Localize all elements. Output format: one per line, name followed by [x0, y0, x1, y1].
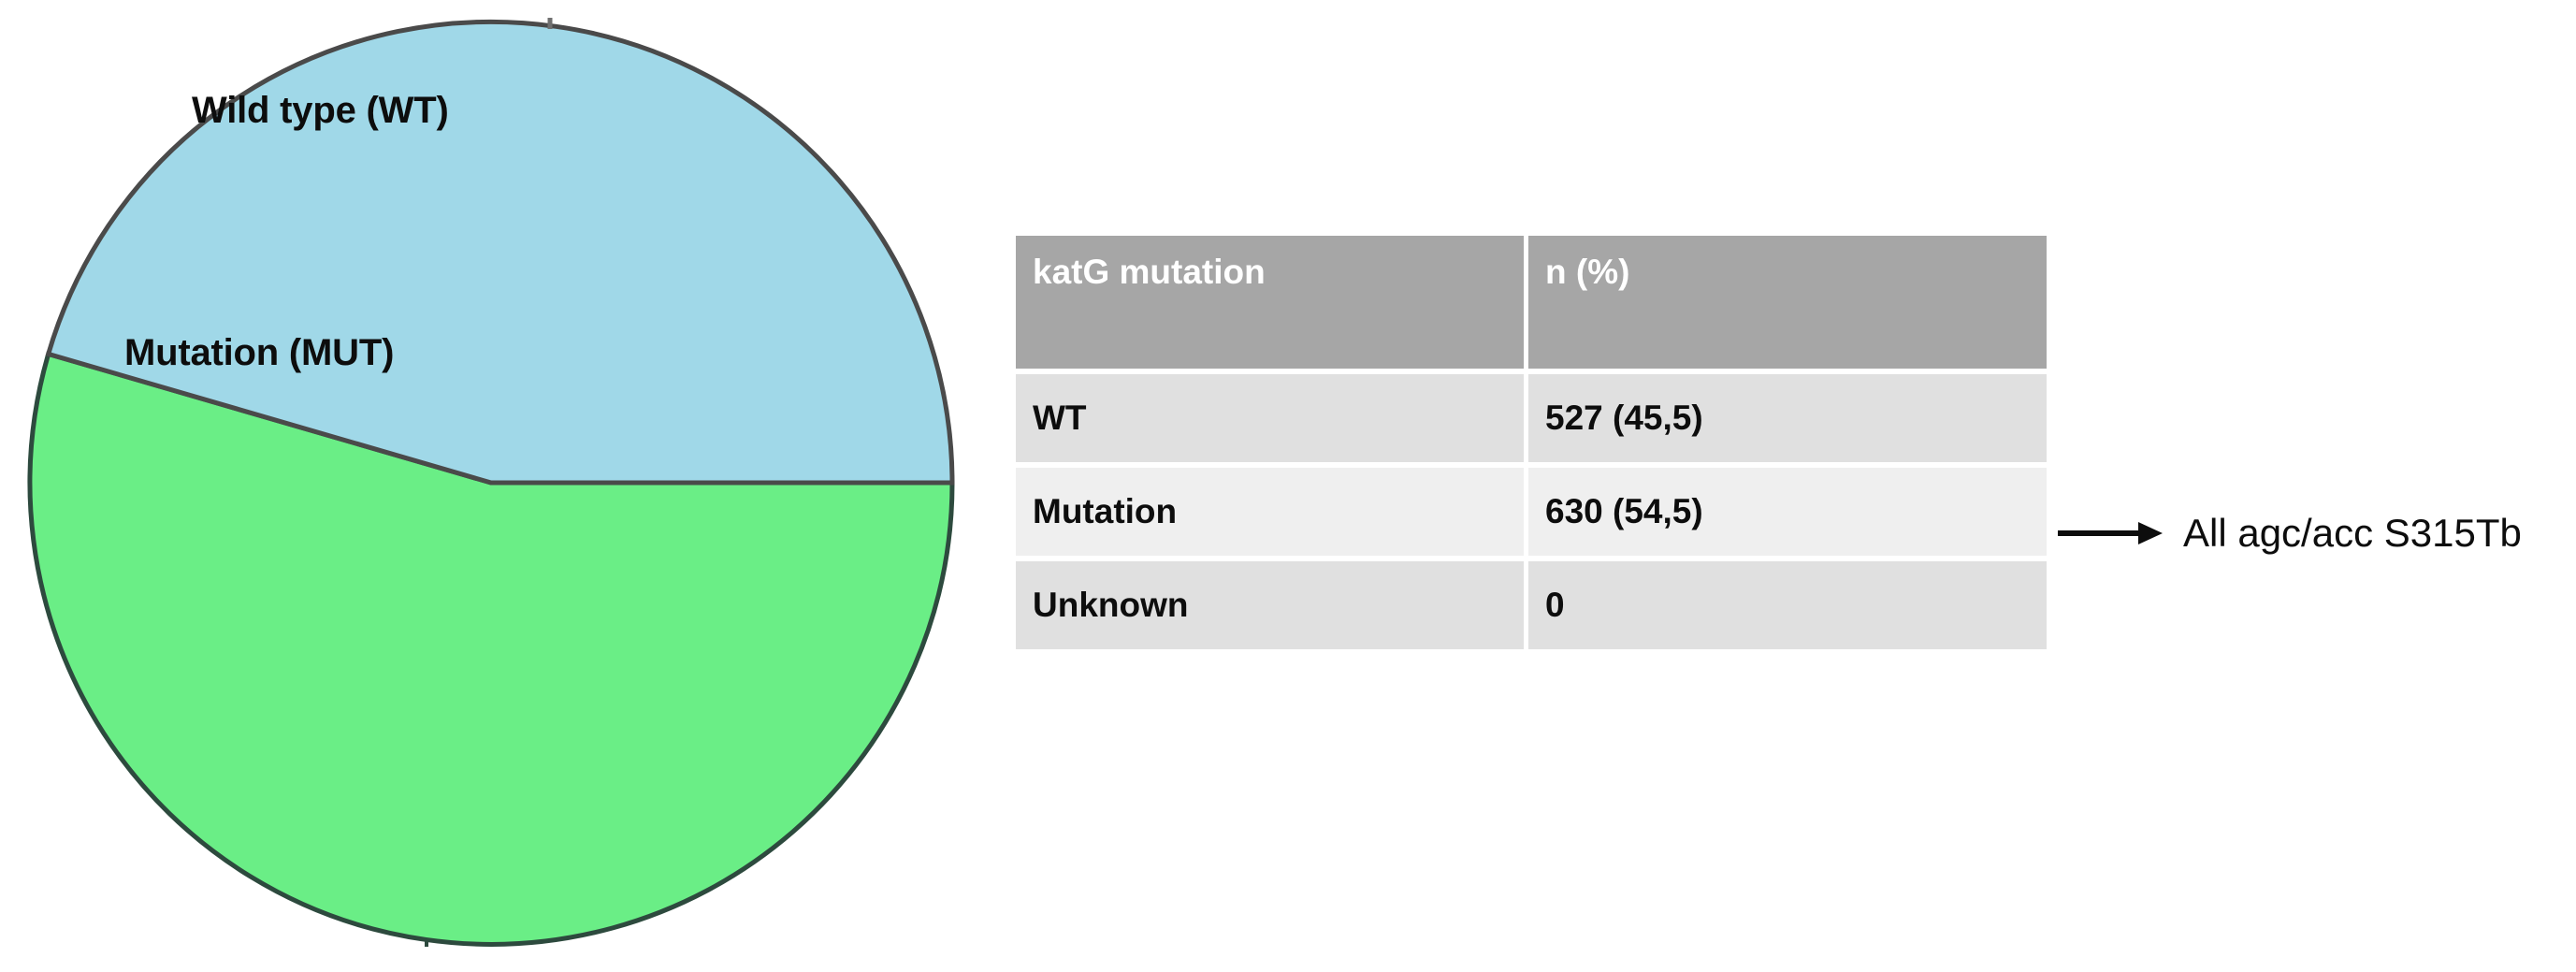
katg-mutation-table: katG mutation n (%) WT 527 (45,5) Mutati… [1016, 236, 2047, 649]
katg-mutation-figure: Wild type (WT) Mutation (MUT) katG mutat… [0, 0, 2576, 972]
cell-row-label: WT [1016, 369, 1528, 462]
pie-chart: Wild type (WT) Mutation (MUT) [0, 0, 991, 972]
cell-row-label: Mutation [1016, 462, 1528, 556]
pie-chart-svg [0, 0, 991, 972]
mutation-annotation: All agc/acc S315Tb [2058, 505, 2522, 561]
table-row: WT 527 (45,5) [1016, 369, 2047, 462]
column-header-n-percent: n (%) [1528, 236, 2047, 369]
cell-row-value: 630 (54,5) [1528, 462, 2047, 556]
pie-slice-label-wild-type: Wild type (WT) [192, 92, 449, 129]
cell-row-label: Unknown [1016, 556, 1528, 649]
annotation-label: All agc/acc S315Tb [2183, 514, 2522, 553]
table-row: Unknown 0 [1016, 556, 2047, 649]
table-row: Mutation 630 (54,5) [1016, 462, 2047, 556]
cell-row-value: 527 (45,5) [1528, 369, 2047, 462]
pie-slice-label-mutation: Mutation (MUT) [124, 334, 394, 371]
cell-row-value: 0 [1528, 556, 2047, 649]
column-header-katg-mutation: katG mutation [1016, 236, 1528, 369]
right-arrow-icon [2058, 515, 2163, 552]
table-header-row: katG mutation n (%) [1016, 236, 2047, 369]
